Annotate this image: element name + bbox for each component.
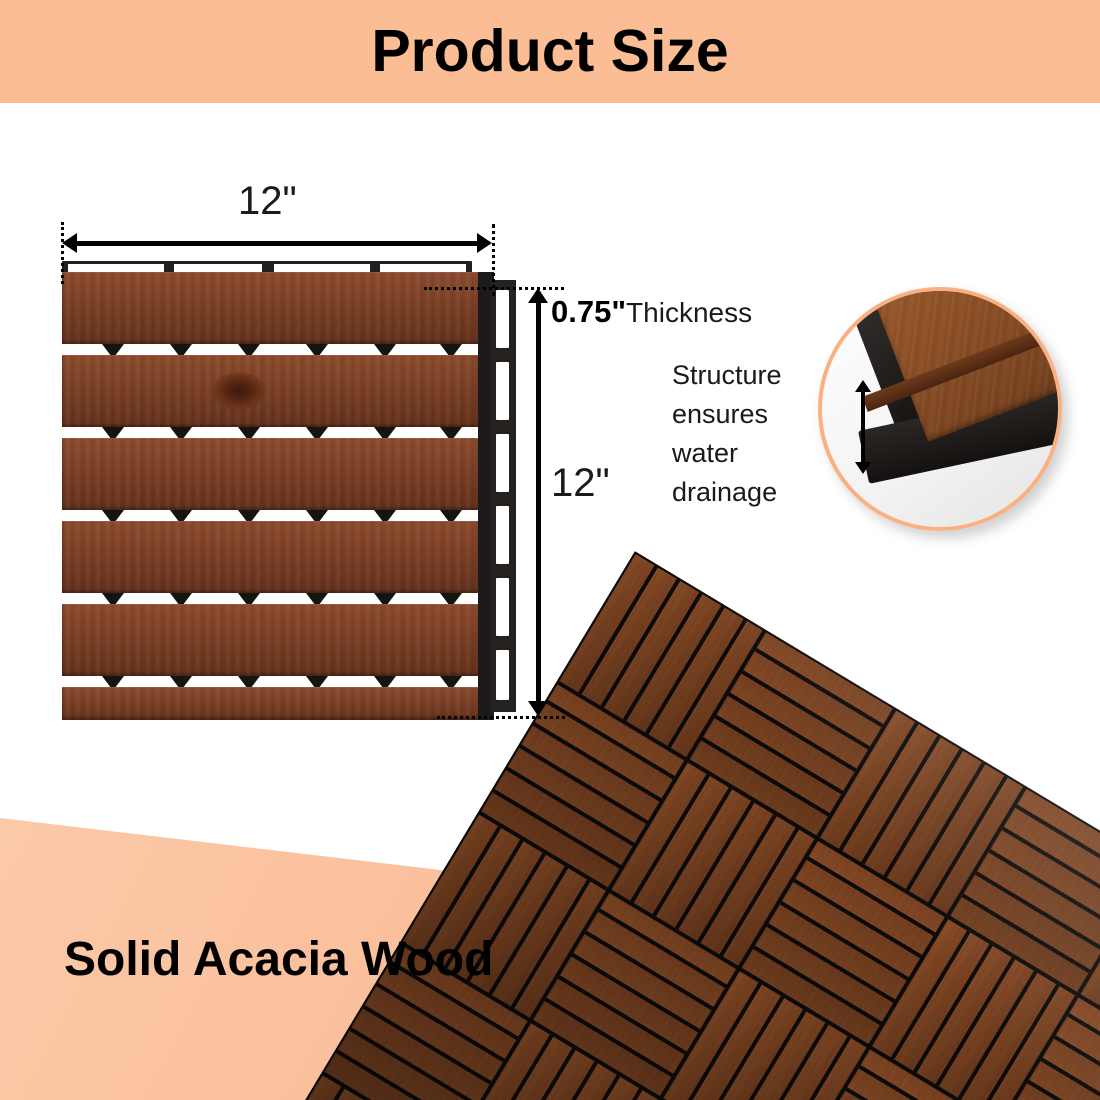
thickness-arrow-icon	[861, 391, 865, 463]
closeup-photo	[822, 291, 1058, 527]
page-title: Product Size	[0, 0, 1100, 103]
drainage-gap	[62, 427, 478, 438]
thickness-value: 0.75"	[551, 296, 626, 327]
extension-line-right	[492, 224, 495, 296]
footer-title: Solid Acacia Wood	[64, 936, 493, 984]
extension-line-left	[61, 222, 64, 284]
drainage-note: Structure ensures water drainage	[672, 356, 822, 512]
drainage-gap	[62, 510, 478, 521]
thickness-callout: 0.75" Thickness	[551, 296, 752, 327]
wood-slat	[62, 687, 478, 720]
width-dimension-label: 12"	[238, 181, 297, 221]
tile-edge-closeup-inset	[818, 287, 1062, 531]
drainage-gap	[62, 676, 478, 687]
width-dimension-arrow	[76, 241, 478, 246]
wood-slat	[62, 438, 478, 510]
wood-slat	[62, 521, 478, 593]
wood-slat	[62, 604, 478, 676]
product-size-infographic: Product Size	[0, 0, 1100, 1100]
single-tile-top-view	[62, 272, 494, 720]
height-dimension-arrow	[536, 302, 541, 702]
thickness-label: Thickness	[626, 299, 752, 327]
wood-slat	[62, 272, 478, 344]
wood-slat	[62, 355, 478, 427]
drainage-gap	[62, 344, 478, 355]
extension-line-bottom	[437, 716, 565, 719]
drainage-gap	[62, 593, 478, 604]
height-dimension-label: 12"	[551, 463, 610, 503]
base-connector-column	[490, 280, 516, 712]
